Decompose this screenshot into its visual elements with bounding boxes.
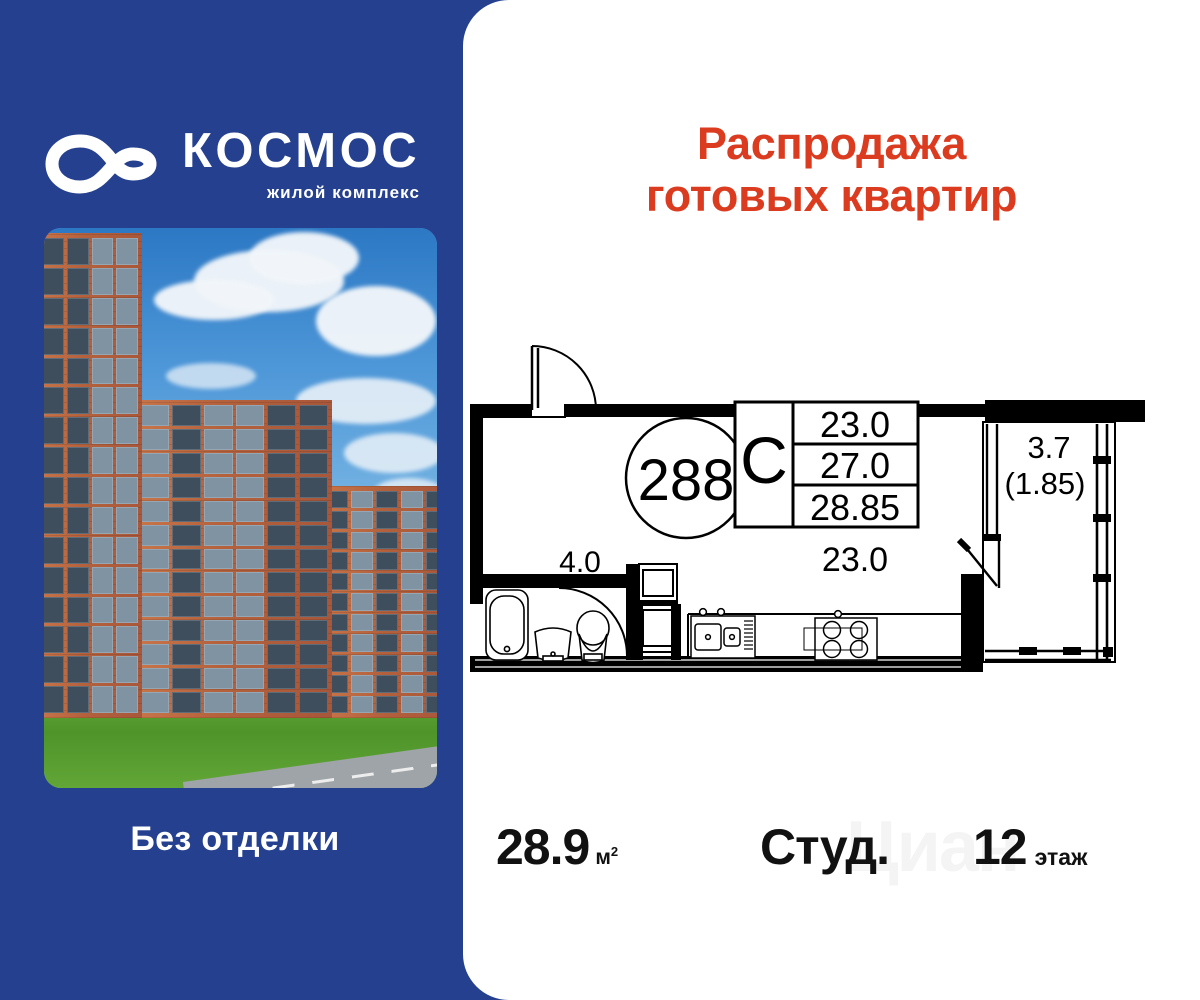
apartment-number-badge: 288 (626, 418, 746, 538)
headline-line-2: готовых квартир (463, 170, 1200, 222)
area-table: С 23.0 27.0 28.85 (735, 402, 918, 528)
finish-caption: Без отделки (0, 820, 470, 859)
apartment-number: 288 (638, 448, 735, 513)
building-block (44, 233, 142, 718)
wall-bathroom-top-left (483, 574, 633, 588)
cloud (344, 433, 437, 473)
cloud (154, 280, 274, 320)
area-total-without-balcony: 27.0 (820, 445, 890, 486)
headline-line-1: Распродажа (697, 118, 966, 169)
wall-top-balcony (985, 400, 1145, 422)
stat-floor-value: 12 (973, 818, 1027, 876)
area-total-with-balcony: 28.85 (810, 487, 900, 528)
apartment-stats: 28.9 м2 Студ. 12 этаж (463, 812, 1200, 888)
washbasin-icon (535, 628, 571, 661)
stat-area: 28.9 м2 (496, 818, 618, 876)
balcony: 3.7 (1.85) (959, 422, 1115, 662)
window-grid (44, 233, 142, 718)
stat-area-unit: м2 (595, 844, 618, 870)
infinity-icon (44, 129, 162, 199)
room-label-balcony: 3.7 (1027, 430, 1070, 465)
offer-card: КОСМОС жилой комплекс (0, 0, 1200, 1000)
building-block (322, 486, 437, 718)
brand-name: КОСМОС (182, 127, 420, 176)
bathtub-icon (486, 590, 528, 660)
wall-balcony-partition (961, 574, 983, 672)
wall-entry-stub (470, 404, 532, 417)
stat-floor: 12 этаж (973, 818, 1087, 876)
cloud (249, 232, 359, 284)
building-block (136, 400, 332, 718)
wall-shaft-right (671, 604, 681, 660)
entry-door (532, 346, 596, 410)
window-grid (322, 486, 437, 718)
offer-panel: Распродажа готовых квартир (463, 0, 1200, 1000)
room-label-balcony-secondary: (1.85) (1005, 466, 1086, 501)
room-label-studio: 23.0 (822, 541, 888, 579)
building-photo (44, 228, 437, 788)
brand-tagline: жилой комплекс (267, 183, 420, 203)
bathroom: 4.0 (483, 546, 639, 663)
kitchen-sink-icon (691, 609, 755, 658)
cloud (316, 286, 436, 356)
area-living: 23.0 (820, 404, 890, 445)
apartment-type-letter: С (740, 423, 788, 497)
kitchen (688, 609, 961, 660)
room-label-bathroom: 4.0 (559, 546, 601, 579)
stat-area-value: 28.9 (496, 818, 589, 876)
floor-plan: 288 С 23.0 27.0 28.85 23.0 (463, 338, 1200, 718)
brand-logo: КОСМОС жилой комплекс (44, 118, 440, 210)
stat-rooms-value: Студ. (760, 818, 889, 876)
stat-floor-suffix: этаж (1035, 844, 1088, 871)
toilet-icon (577, 611, 609, 663)
wall-shaft-left (633, 604, 643, 660)
cloud (166, 363, 256, 389)
window-grid (136, 400, 332, 718)
wall-left (470, 404, 483, 604)
cooktop-icon (804, 611, 877, 660)
page-title: Распродажа готовых квартир (463, 118, 1200, 222)
brand-panel: КОСМОС жилой комплекс (0, 0, 470, 1000)
brand-wordmark: КОСМОС жилой комплекс (182, 125, 420, 203)
